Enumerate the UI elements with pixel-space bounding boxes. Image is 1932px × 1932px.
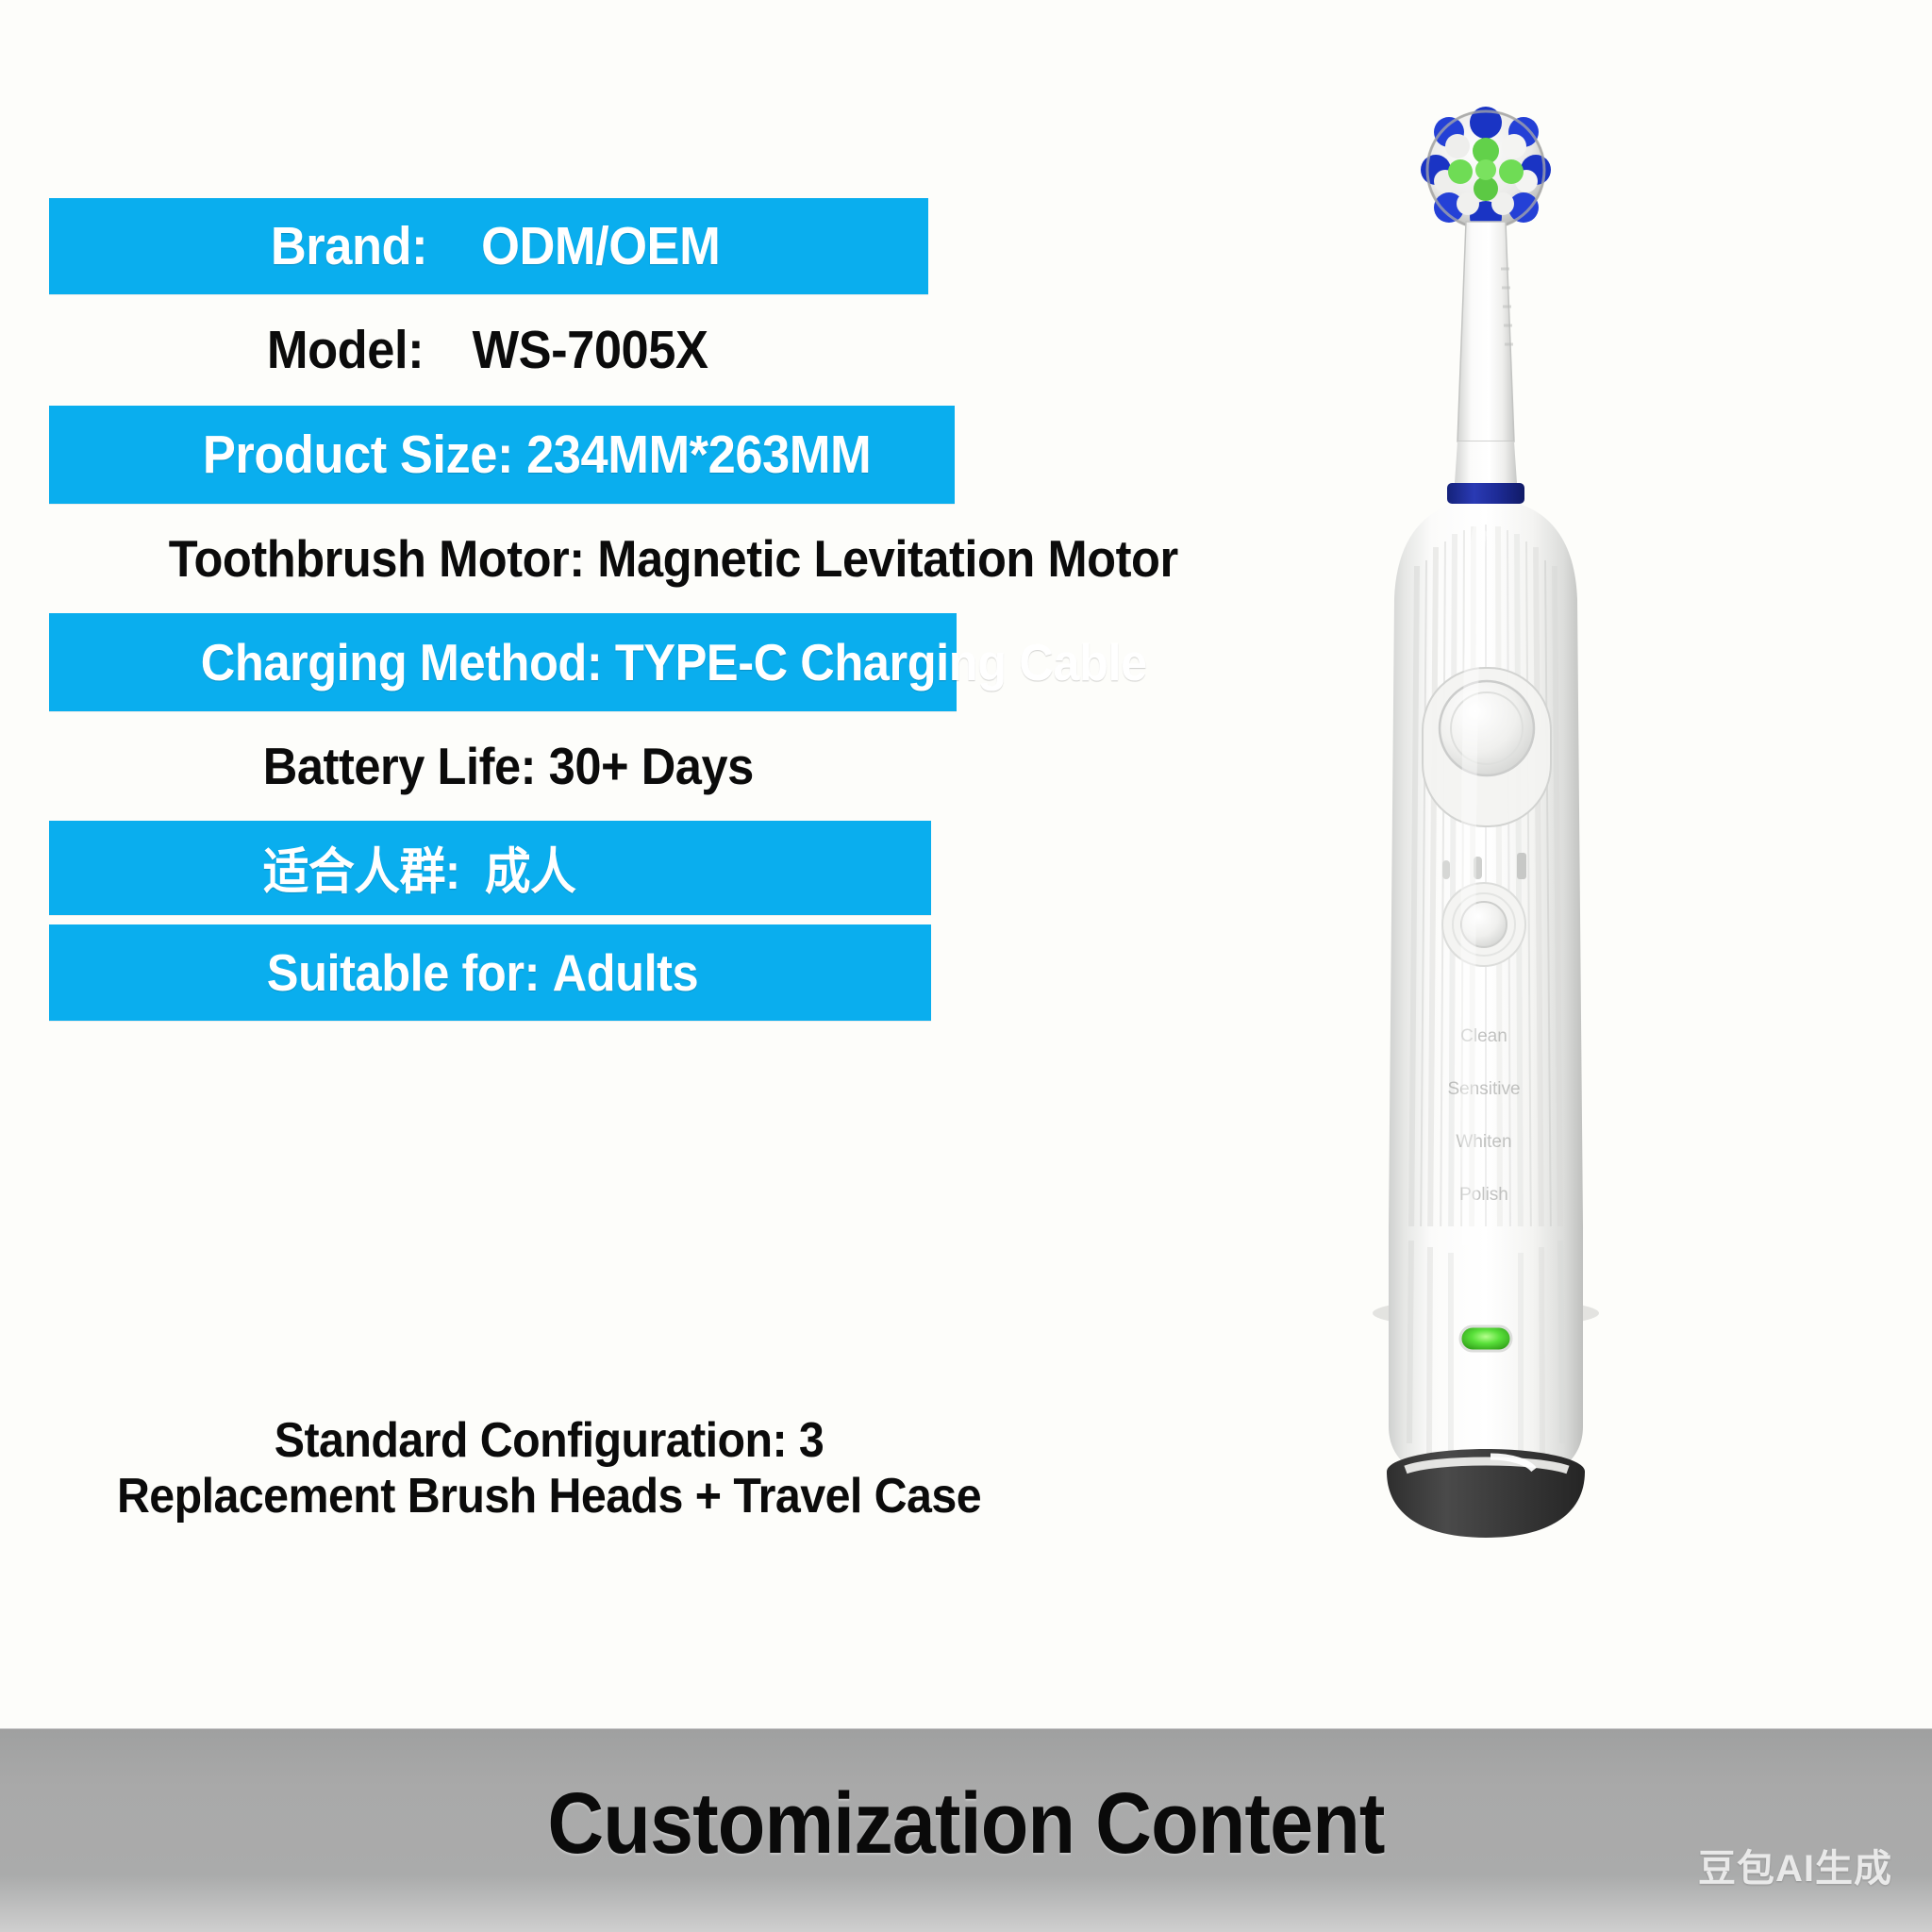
standard-configuration-line-2: Replacement Brush Heads + Travel Case — [84, 1469, 1014, 1524]
spec-value-suitable-for: Adults — [553, 942, 699, 1003]
charging-led-top — [1460, 1326, 1511, 1351]
standard-configuration-line-1: Standard Configuration: 3 — [84, 1413, 1014, 1469]
blue-collar-ring — [1447, 483, 1524, 504]
brush-neck — [1457, 222, 1514, 441]
handle-base-cap — [1387, 1449, 1585, 1538]
bottom-banner: Customization Content 豆包AI生成 — [0, 1728, 1932, 1932]
banner-title: Customization Content — [96, 1774, 1835, 1874]
brush-shaft — [1455, 441, 1517, 483]
product-image-electric-toothbrush: Clean Sensitive Whiten Polish Massage — [1085, 57, 1887, 1660]
handle-lower — [1389, 1226, 1583, 1485]
mode-button[interactable] — [1442, 883, 1525, 966]
spec-value-battery-life: 30+ Days — [549, 736, 754, 796]
spec-row-suitable-for: Suitable for: Adults — [49, 924, 931, 1021]
ai-watermark: 豆包AI生成 — [1698, 1838, 1892, 1892]
mode-label-2: Sensitive — [1447, 1079, 1520, 1099]
product-spec-page: Brand:ODM/OEM Model:WS-7005X Product Siz… — [0, 0, 1932, 1932]
spec-label-suitable-for: Suitable for: — [267, 942, 540, 1003]
power-button[interactable] — [1423, 668, 1551, 826]
brush-head — [1421, 107, 1551, 233]
standard-configuration-text: Standard Configuration: 3 Replacement Br… — [49, 1413, 1049, 1525]
specification-list: Brand:ODM/OEM Model:WS-7005X Product Siz… — [49, 198, 1096, 1030]
toothbrush-illustration: Clean Sensitive Whiten Polish Massage — [1085, 57, 1887, 1660]
